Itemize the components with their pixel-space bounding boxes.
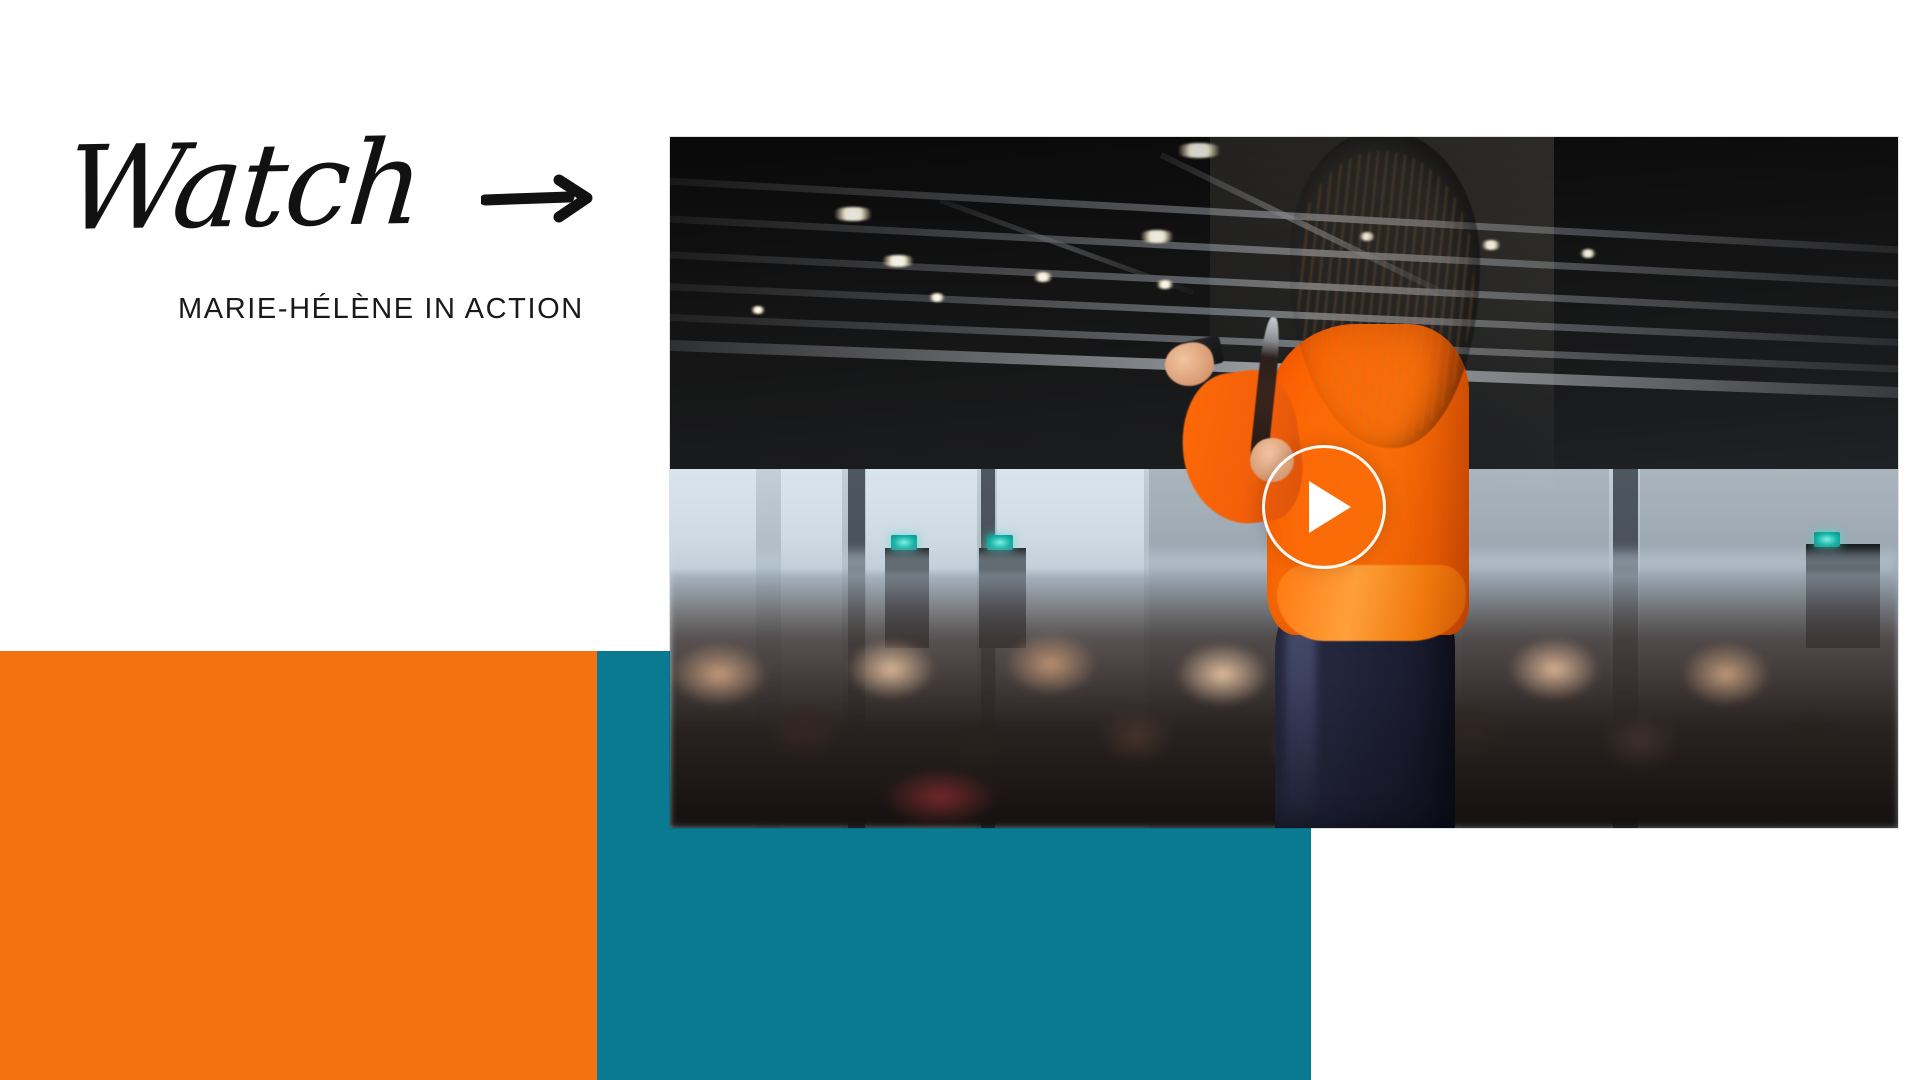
play-button[interactable] xyxy=(1262,445,1386,569)
video-thumbnail-card[interactable] xyxy=(670,137,1898,828)
watch-row: Watch xyxy=(60,105,660,275)
watch-script-heading: Watch xyxy=(61,126,426,248)
arrow-right-icon xyxy=(481,171,601,227)
headline-subtitle: MARIE-HÉLÈNE IN ACTION xyxy=(178,293,660,326)
play-triangle-icon xyxy=(1309,481,1351,533)
headline-group: Watch MARIE-HÉLÈNE IN ACTION xyxy=(60,105,660,326)
orange-accent-block xyxy=(0,651,597,1080)
video-alt-text: Woman in bright orange blazer and navy s… xyxy=(0,0,1,1)
slide-canvas: Watch MARIE-HÉLÈNE IN ACTION xyxy=(0,0,1920,1080)
